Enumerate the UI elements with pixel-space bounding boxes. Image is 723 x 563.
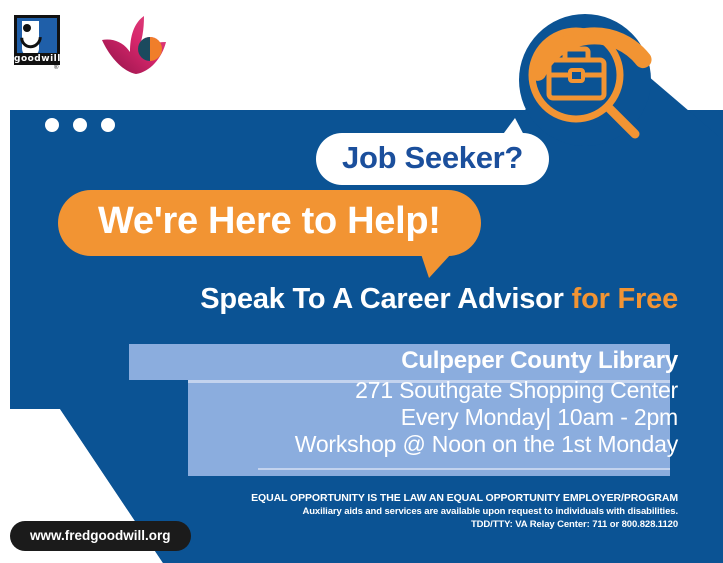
bubble-tail xyxy=(501,118,525,137)
headline-main: Speak To A Career Advisor xyxy=(200,283,571,315)
address-band-rule xyxy=(258,468,670,470)
fineprint-line-2: Auxiliary aids and services are availabl… xyxy=(0,505,678,518)
goodwill-wordmark: goodwill xyxy=(14,53,60,65)
here-to-help-bubble: We're Here to Help! xyxy=(58,190,481,256)
job-seeker-text: Job Seeker? xyxy=(342,140,523,176)
venue-workshop: Workshop @ Noon on the 1st Monday xyxy=(0,431,678,458)
goodwill-logo: goodwill ® xyxy=(10,13,65,73)
venue-hours: Every Monday| 10am - 2pm xyxy=(0,404,678,431)
website-url-text: www.fredgoodwill.org xyxy=(30,528,171,543)
here-to-help-text: We're Here to Help! xyxy=(98,200,441,243)
dot-2 xyxy=(73,118,87,132)
dot-1 xyxy=(45,118,59,132)
headline: Speak To A Career Advisor for Free xyxy=(0,283,678,316)
registered-mark: ® xyxy=(54,65,58,71)
dot-3 xyxy=(101,118,115,132)
website-pill[interactable]: www.fredgoodwill.org xyxy=(10,521,191,551)
headline-accent: for Free xyxy=(572,283,678,315)
venue-name: Culpeper County Library xyxy=(0,345,678,377)
poster-canvas: goodwill ® Job Seeker? xyxy=(0,0,723,563)
fineprint-line-1: EQUAL OPPORTUNITY IS THE LAW AN EQUAL OP… xyxy=(0,492,678,505)
venue-street: 271 Southgate Shopping Center xyxy=(0,377,678,404)
bubble-tail xyxy=(421,254,451,278)
job-seeker-bubble: Job Seeker? xyxy=(316,133,549,185)
window-dots xyxy=(45,118,115,132)
bird-logo xyxy=(100,14,172,76)
address-block: Culpeper County Library 271 Southgate Sh… xyxy=(0,345,678,458)
